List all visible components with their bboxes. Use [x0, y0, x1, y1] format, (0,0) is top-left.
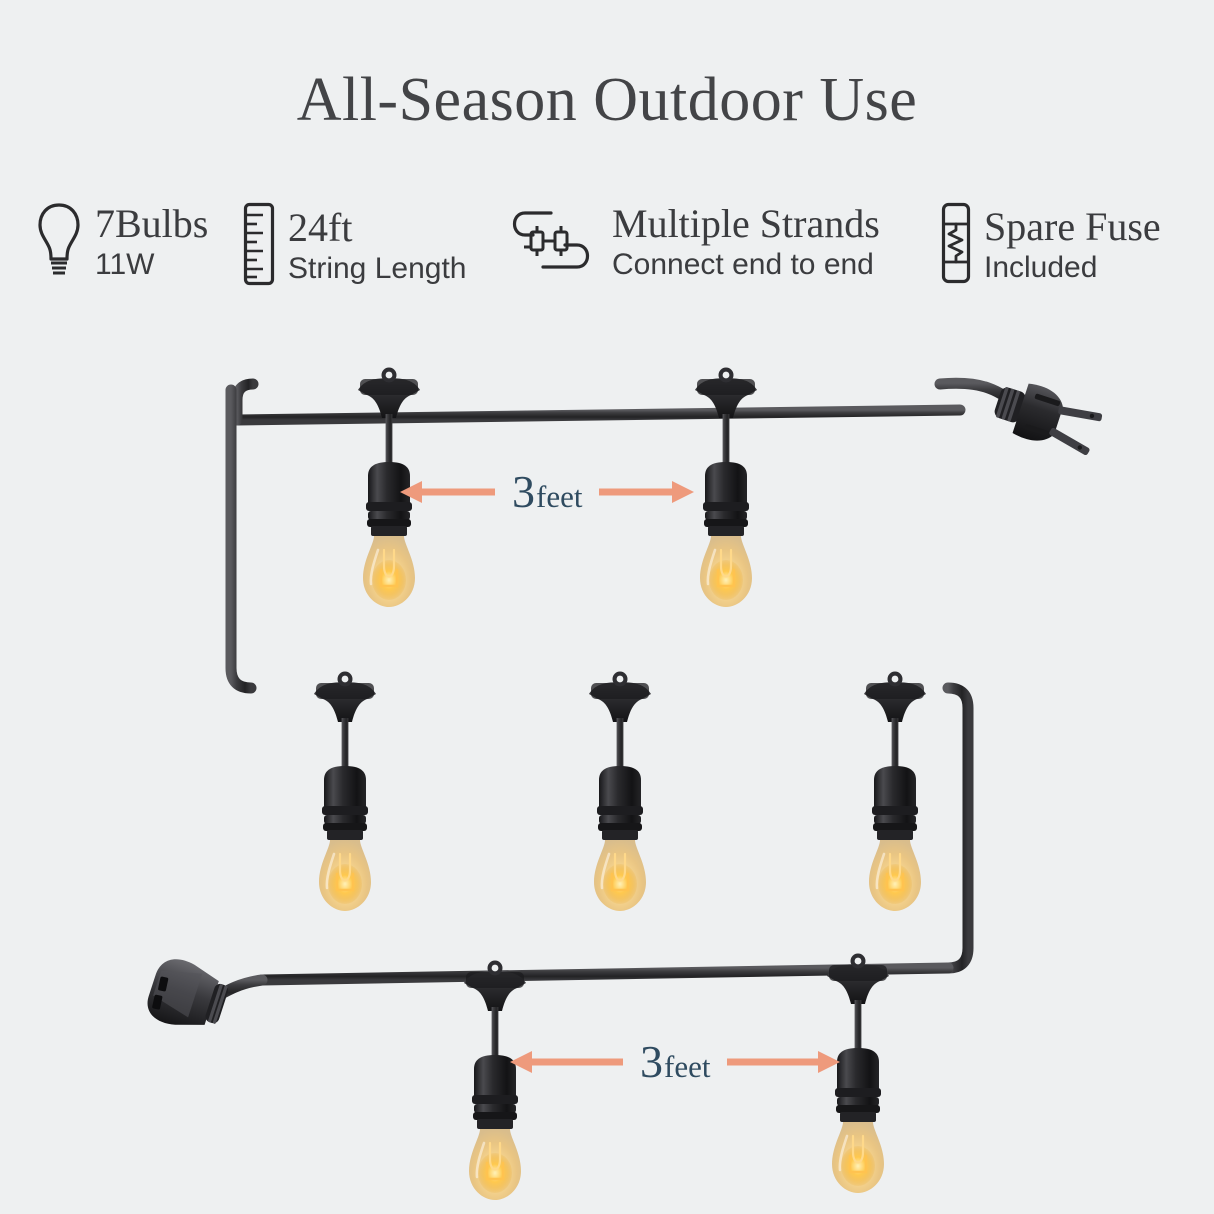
bulb-assembly	[589, 672, 651, 912]
plug-connector-icon	[503, 204, 599, 281]
bulb-assembly	[314, 672, 376, 912]
infographic-page: All-Season Outdoor Use 7Bulbs 11W	[0, 0, 1214, 1214]
measurement-bottom: 3 feet	[508, 1032, 868, 1092]
feature-length-main: 24ft	[288, 206, 466, 250]
feature-fuse-sub: Included	[984, 250, 1161, 286]
feature-fuse: Spare Fuse Included	[941, 202, 1161, 289]
page-title: All-Season Outdoor Use	[0, 64, 1214, 136]
feature-bulbs-main: 7Bulbs	[95, 202, 208, 246]
feature-strands-sub: Connect end to end	[612, 247, 880, 283]
measurement-top-label: 3 feet	[498, 469, 596, 515]
measurement-top-number: 3	[512, 469, 535, 515]
arrow-left-icon	[398, 477, 498, 507]
feature-strands: Multiple Strands Connect end to end	[503, 202, 880, 283]
bulb-assembly	[864, 672, 926, 912]
feature-strands-main: Multiple Strands	[612, 202, 880, 246]
measurement-top: 3 feet	[398, 462, 720, 522]
feature-list: 7Bulbs 11W 24ft	[0, 196, 1214, 308]
fuse-icon	[941, 202, 971, 289]
male-plug	[989, 375, 1106, 460]
feature-length-text: 24ft String Length	[288, 206, 466, 287]
feature-fuse-text: Spare Fuse Included	[984, 205, 1161, 286]
feature-bulbs-text: 7Bulbs 11W	[95, 202, 208, 283]
female-socket	[142, 953, 233, 1038]
feature-length: 24ft String Length	[243, 202, 466, 291]
measurement-bottom-number: 3	[640, 1039, 663, 1085]
arrow-right-icon	[596, 477, 696, 507]
feature-bulbs: 7Bulbs 11W	[36, 202, 208, 283]
ruler-icon	[243, 202, 275, 291]
measurement-bottom-unit: feet	[664, 1051, 710, 1082]
measurement-bottom-label: 3 feet	[626, 1039, 724, 1085]
feature-length-sub: String Length	[288, 251, 466, 287]
feature-fuse-main: Spare Fuse	[984, 205, 1161, 249]
light-bulb-icon	[36, 202, 82, 283]
arrow-right-icon	[724, 1047, 842, 1077]
measurement-top-unit: feet	[536, 481, 582, 512]
arrow-left-icon	[508, 1047, 626, 1077]
feature-bulbs-sub: 11W	[95, 247, 208, 283]
feature-strands-text: Multiple Strands Connect end to end	[612, 202, 880, 283]
